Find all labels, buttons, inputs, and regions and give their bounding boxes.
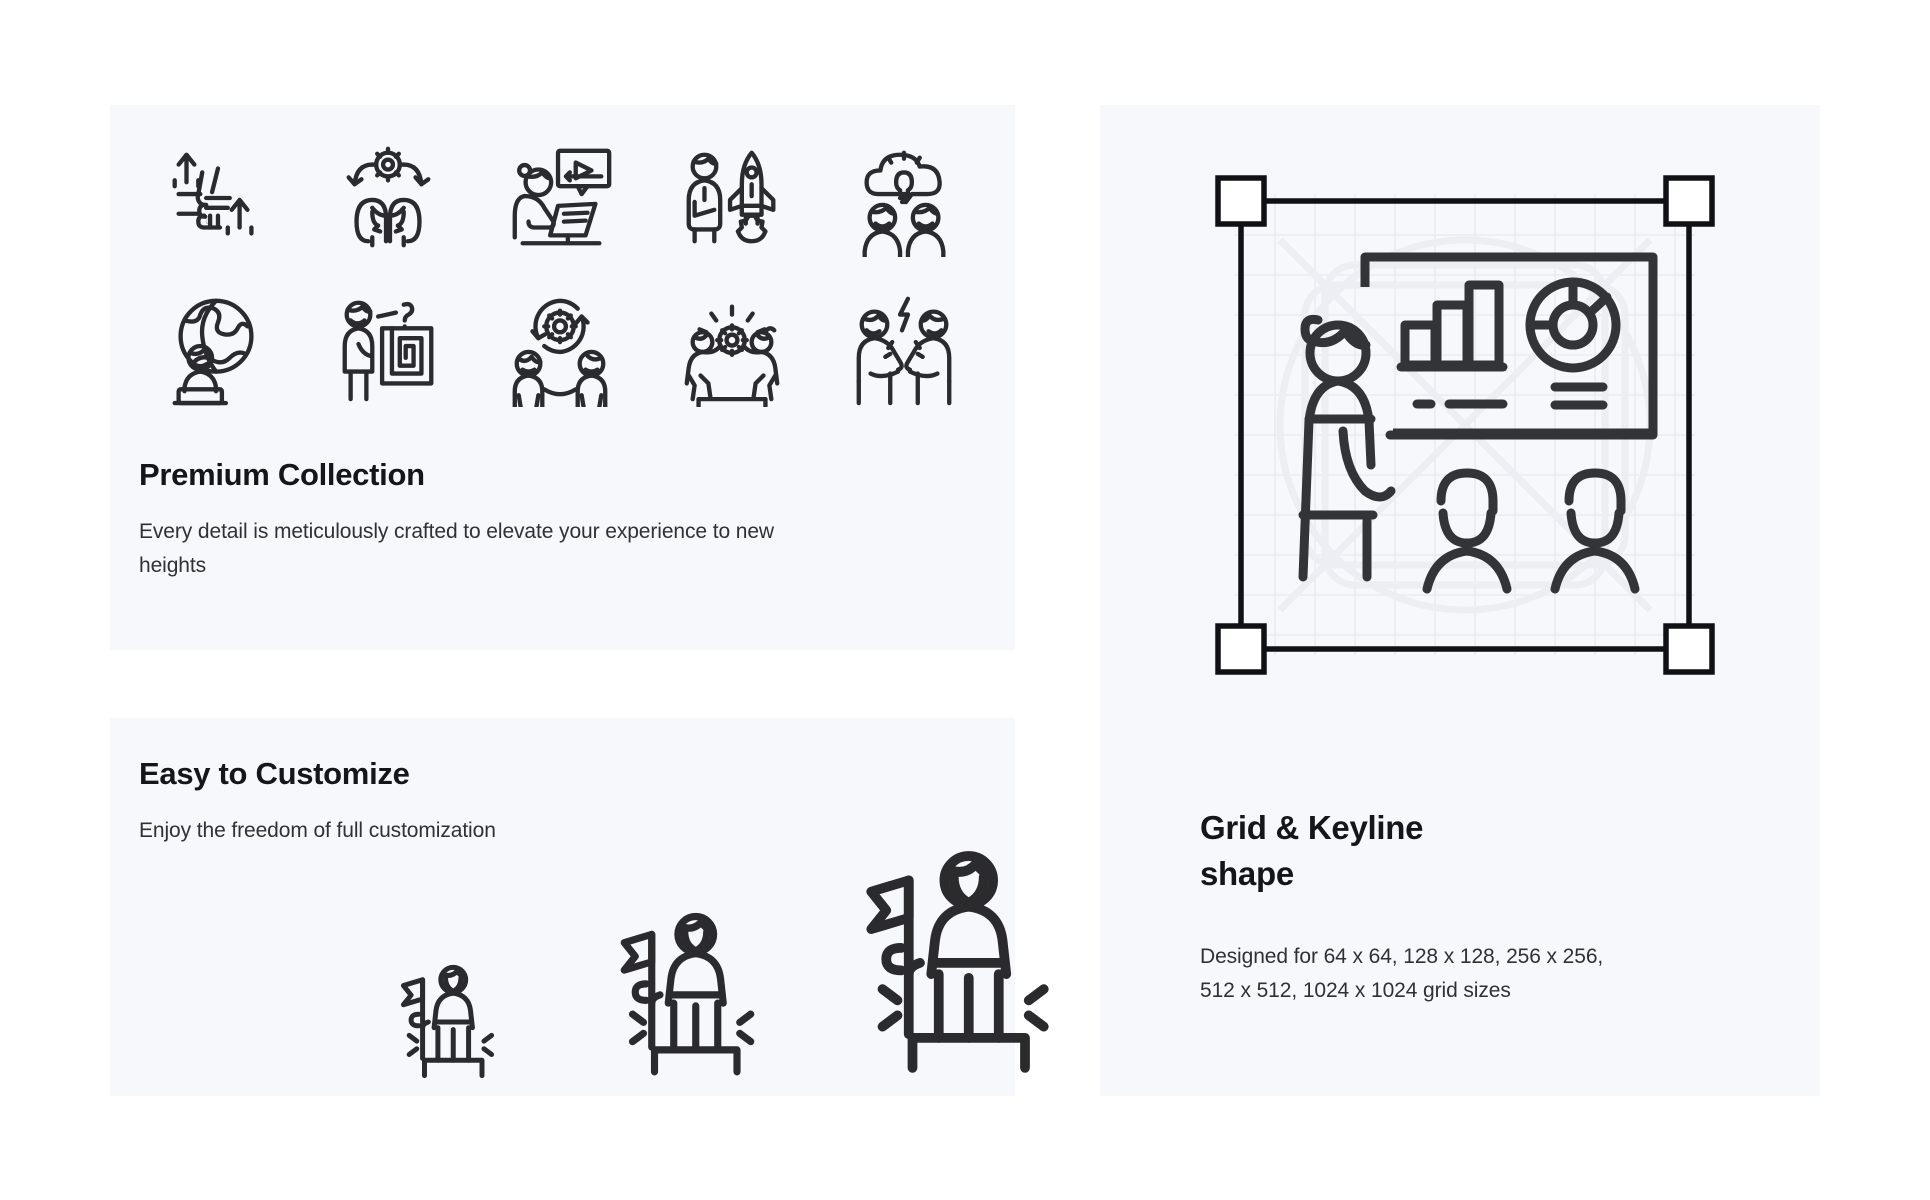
brainstorm-idea-icon[interactable] <box>844 138 964 258</box>
premium-collection-panel: Premium Collection Every detail is metic… <box>110 105 1015 650</box>
premium-heading: Premium Collection <box>139 457 819 493</box>
premium-text-block: Premium Collection Every detail is metic… <box>139 457 819 583</box>
grid-text-block: Grid & Keyline shape Designed for 64 x 6… <box>1200 805 1740 1007</box>
achievement-flag-icon-large[interactable] <box>845 836 1070 1086</box>
conflict-debate-icon[interactable] <box>844 288 964 408</box>
keyline-artboard[interactable] <box>1205 165 1725 685</box>
handshake-growth-icon[interactable] <box>156 138 276 258</box>
remote-work-globe-icon[interactable] <box>156 288 276 408</box>
startup-launch-icon[interactable] <box>672 138 792 258</box>
easy-to-customize-panel: Easy to Customize Enjoy the freedom of f… <box>110 718 1015 1096</box>
grid-subtext: Designed for 64 x 64, 128 x 128, 256 x 2… <box>1200 940 1740 1007</box>
grid-heading: Grid & Keyline shape <box>1200 805 1740 896</box>
keyline-handle-top-right <box>1666 178 1712 224</box>
customize-heading: Easy to Customize <box>139 756 539 792</box>
grid-keyline-panel: Grid & Keyline shape Designed for 64 x 6… <box>1100 105 1820 1096</box>
online-learning-icon[interactable] <box>500 138 620 258</box>
problem-solving-maze-icon[interactable] <box>328 288 448 408</box>
scale-showcase <box>230 796 1010 1096</box>
premium-icon-grid <box>130 123 990 423</box>
grid-heading-line1: Grid & Keyline <box>1200 809 1423 846</box>
teamwork-lifting-gear-icon[interactable] <box>672 288 792 408</box>
keyline-handle-bottom-left <box>1218 626 1264 672</box>
grid-subtext-line1: Designed for 64 x 64, 128 x 128, 256 x 2… <box>1200 945 1603 968</box>
premium-subtext: Every detail is meticulously crafted to … <box>139 515 819 583</box>
page-root: Premium Collection Every detail is metic… <box>0 0 1930 1200</box>
grid-heading-line2: shape <box>1200 855 1294 892</box>
achievement-flag-icon-medium[interactable] <box>605 901 770 1086</box>
knowledge-exchange-icon[interactable] <box>328 138 448 258</box>
keyline-handle-top-left <box>1218 178 1264 224</box>
grid-subtext-line2: 512 x 512, 1024 x 1024 grid sizes <box>1200 979 1511 1002</box>
collaboration-cycle-icon[interactable] <box>500 288 620 408</box>
achievement-flag-icon-small[interactable] <box>390 956 505 1086</box>
keyline-handle-bottom-right <box>1666 626 1712 672</box>
